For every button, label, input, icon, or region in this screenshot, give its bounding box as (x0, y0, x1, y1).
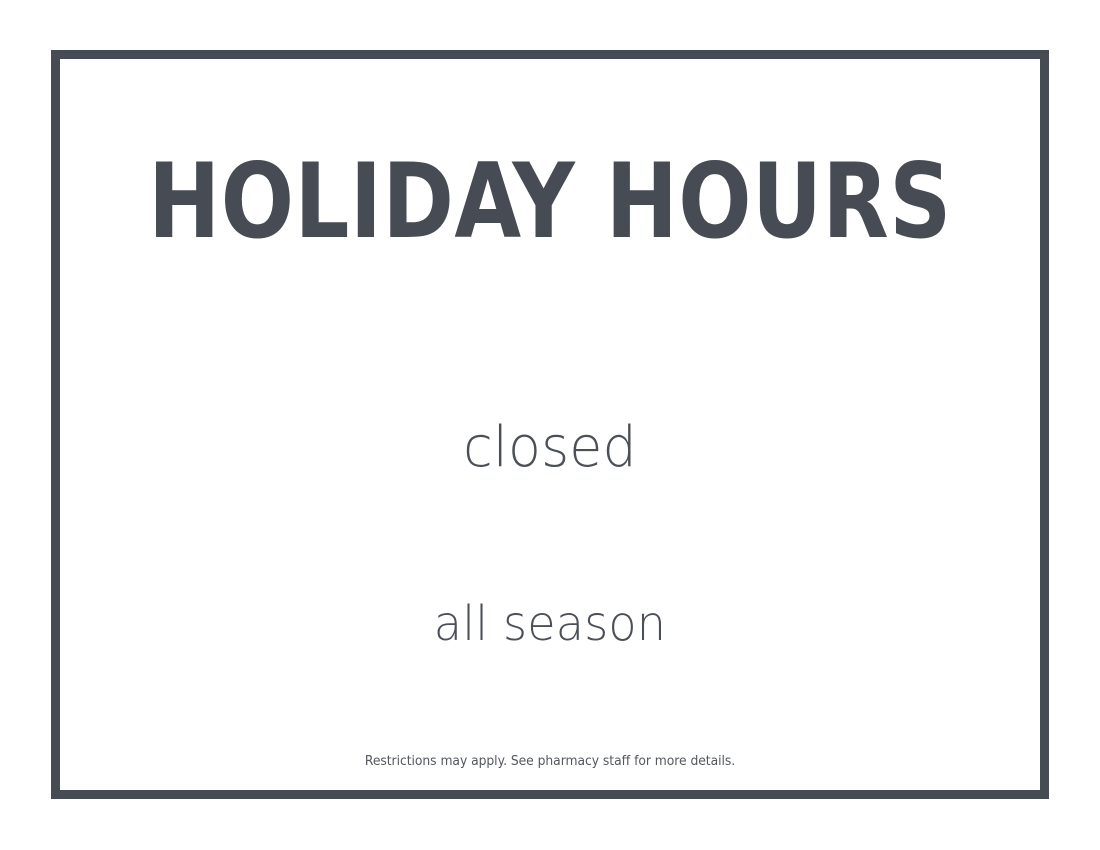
disclaimer-footnote: Restrictions may apply. See pharmacy sta… (85, 754, 1016, 770)
page-title: HOLIDAY HOURS (94, 151, 1005, 254)
scope-text: all season (80, 599, 1021, 649)
sign-content-area: HOLIDAY HOURS closed all season Restrict… (60, 59, 1040, 790)
sign-page: HOLIDAY HOURS closed all season Restrict… (0, 0, 1100, 850)
status-text: closed (80, 419, 1021, 478)
sign-frame-border: HOLIDAY HOURS closed all season Restrict… (51, 50, 1049, 799)
